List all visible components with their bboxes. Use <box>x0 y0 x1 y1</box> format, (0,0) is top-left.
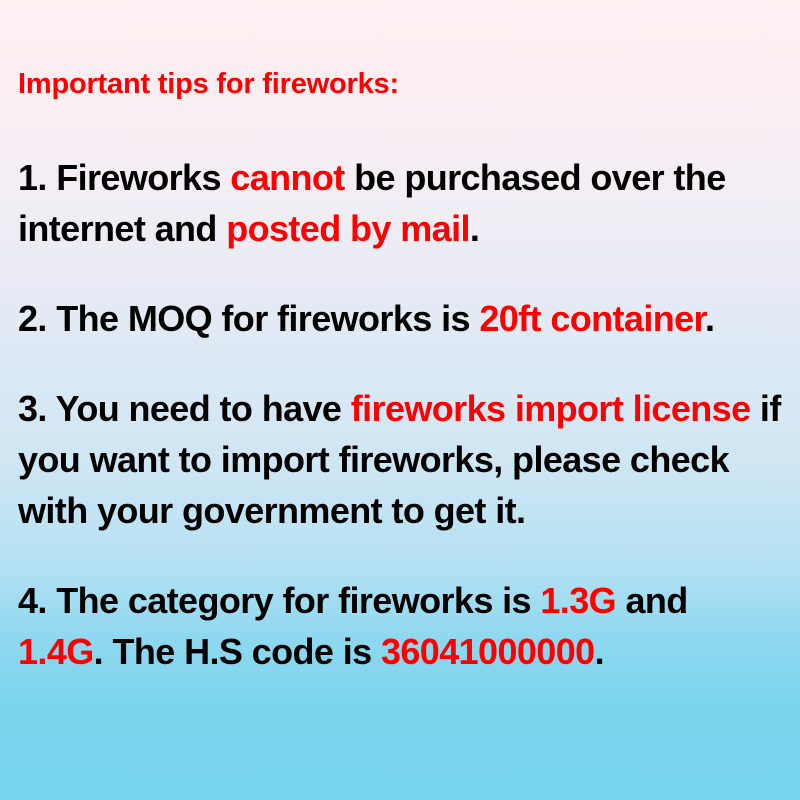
tip-highlight-text: cannot <box>230 157 344 198</box>
tip-plain-text: 3. You need to have <box>18 388 351 429</box>
list-item: 2. The MOQ for fireworks is 20ft contain… <box>18 293 782 344</box>
page-title: Important tips for fireworks: <box>18 70 399 99</box>
list-item: 1. Fireworks cannot be purchased over th… <box>18 152 782 254</box>
tip-plain-text: 1. Fireworks <box>18 157 230 198</box>
list-item: 4. The category for fireworks is 1.3G an… <box>18 575 782 677</box>
tip-highlight-text: 20ft container <box>479 298 705 339</box>
tips-list: 1. Fireworks cannot be purchased over th… <box>18 152 782 677</box>
tip-highlight-text: posted by mail <box>226 208 470 249</box>
tip-plain-text: 4. The category for fireworks is <box>18 580 540 621</box>
fireworks-tips-poster: Important tips for fireworks: 1. Firewor… <box>0 0 800 800</box>
tip-plain-text: . <box>470 208 479 249</box>
tip-plain-text: . <box>705 298 714 339</box>
tip-plain-text: and <box>616 580 688 621</box>
tip-highlight-text: 36041000000 <box>381 631 595 672</box>
list-item: 3. You need to have fireworks import lic… <box>18 383 782 536</box>
tip-highlight-text: 1.4G <box>18 631 94 672</box>
tip-plain-text: . <box>595 631 604 672</box>
tip-highlight-text: fireworks import license <box>351 388 751 429</box>
tip-highlight-text: 1.3G <box>540 580 616 621</box>
tip-plain-text: 2. The MOQ for fireworks is <box>18 298 479 339</box>
tip-plain-text: . The H.S code is <box>94 631 381 672</box>
